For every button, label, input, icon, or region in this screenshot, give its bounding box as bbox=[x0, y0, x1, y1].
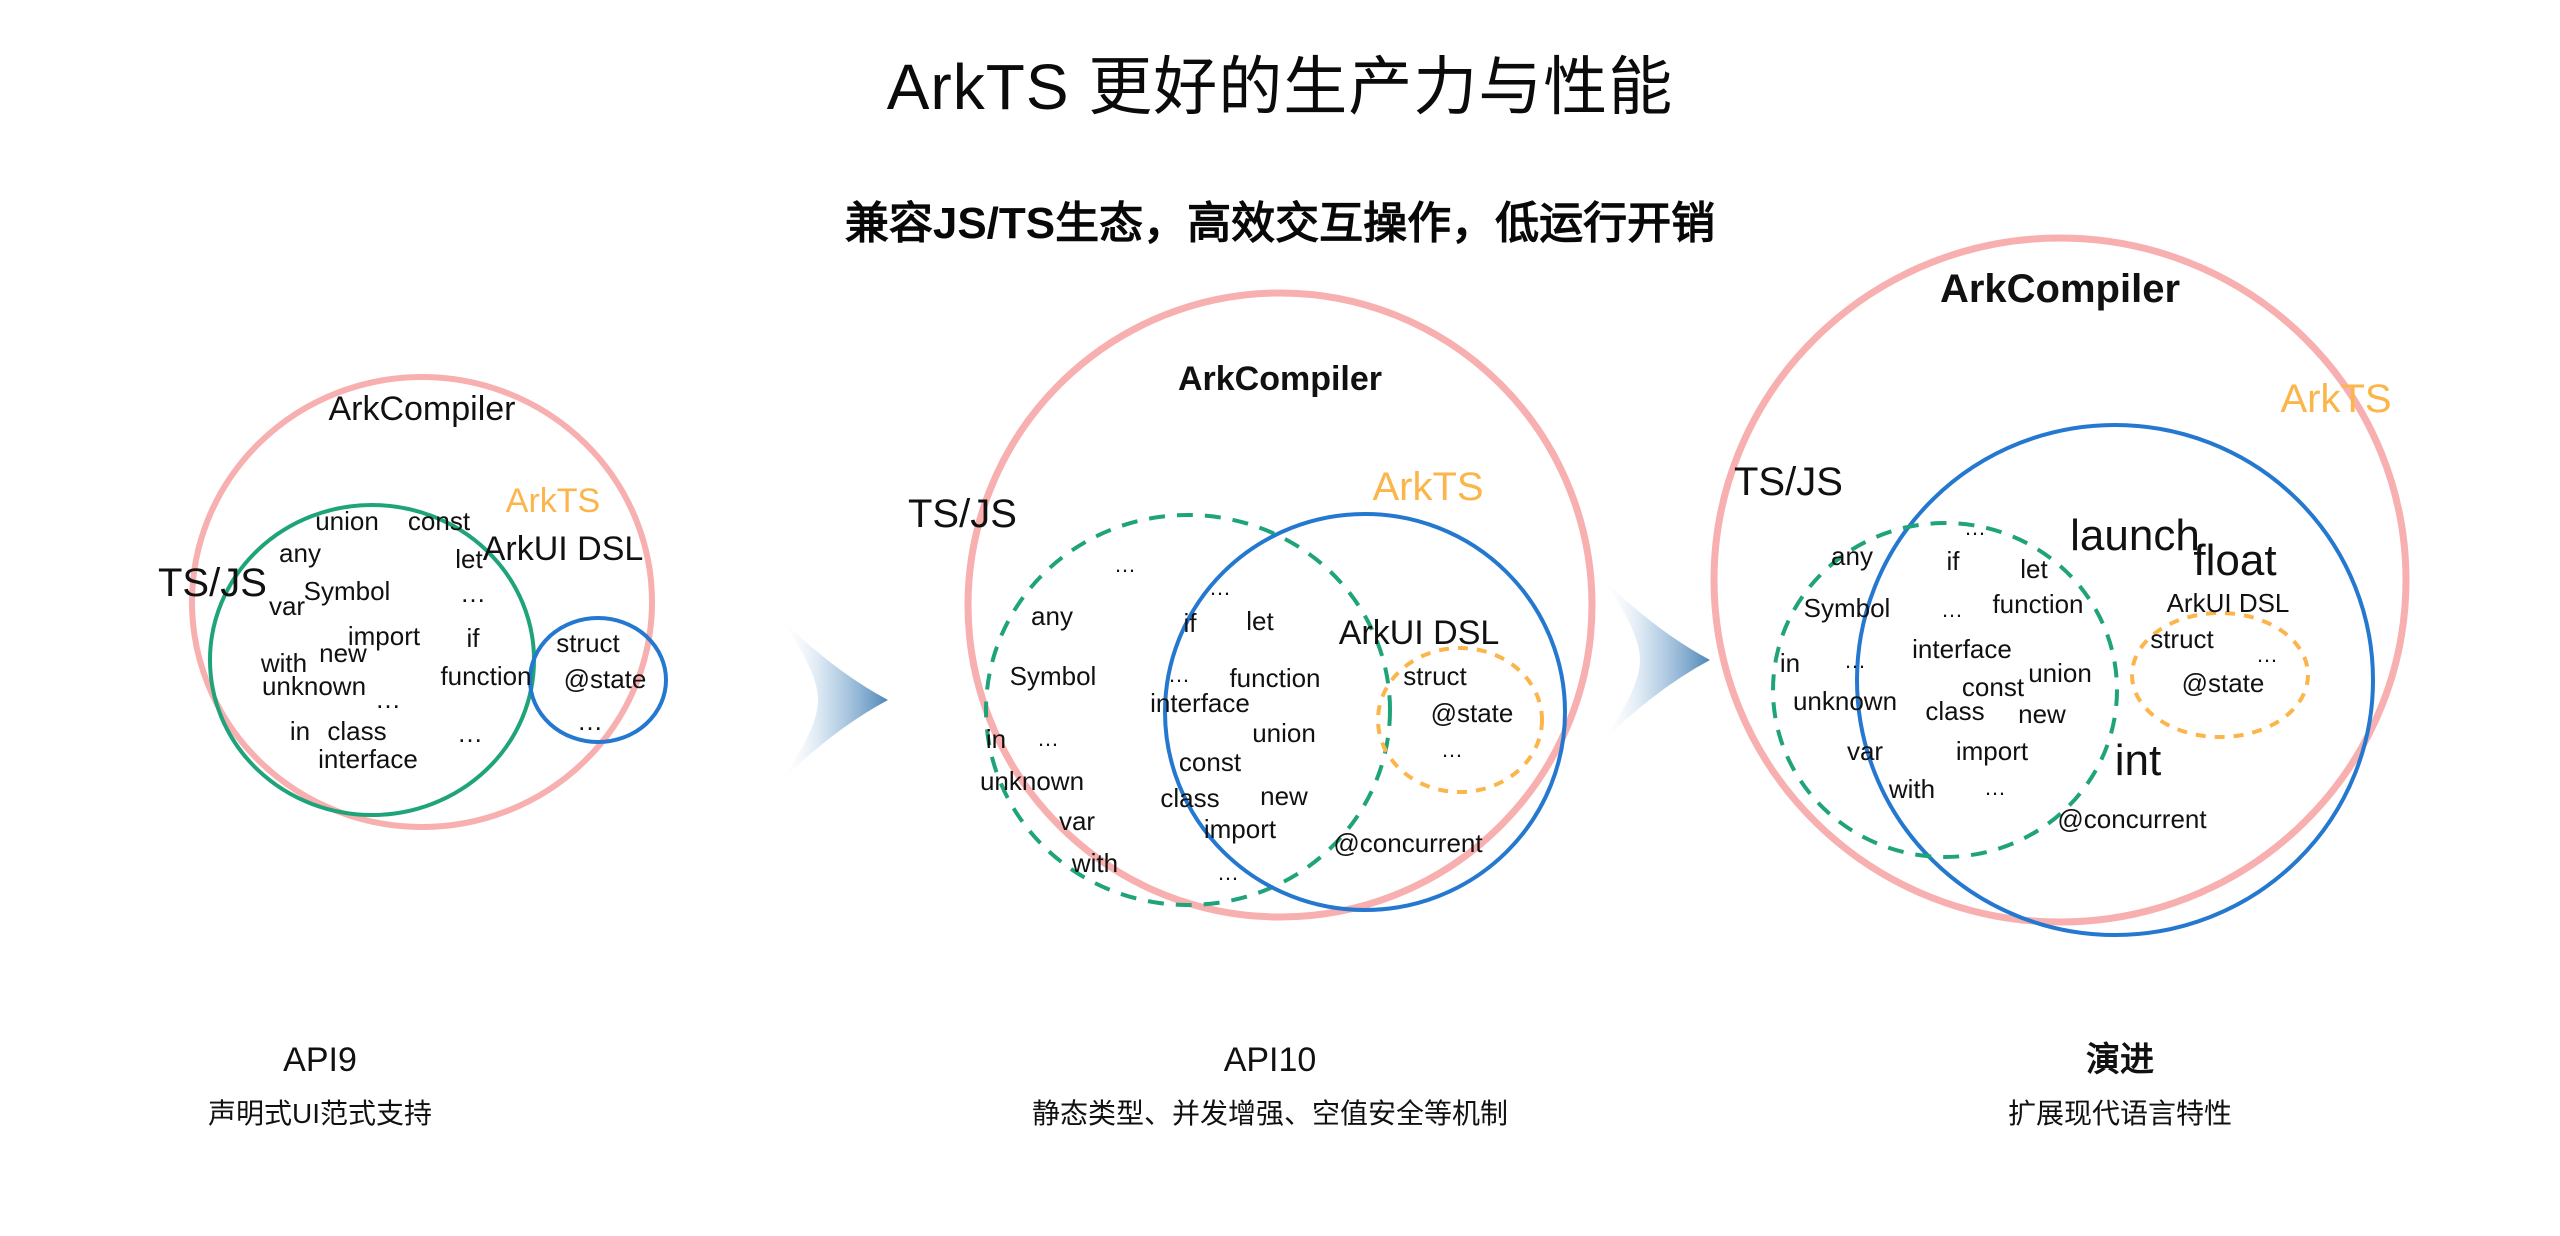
panel-api10: ArkCompiler TS/JS ArkTS ArkUI DSL … any … bbox=[900, 250, 1640, 950]
svg-text:@state: @state bbox=[2182, 668, 2265, 698]
tsjs-keyword-cloud: … any Symbol in … unknown var with bbox=[980, 552, 1136, 878]
svg-text:new: new bbox=[2018, 699, 2066, 729]
svg-text:unknown: unknown bbox=[262, 671, 366, 701]
svg-text:Symbol: Symbol bbox=[1804, 593, 1891, 623]
svg-text:in: in bbox=[986, 724, 1006, 754]
page-title: ArkTS 更好的生产力与性能 bbox=[0, 52, 2560, 122]
panel-api9: ArkCompiler TS/JS ArkTS ArkUI DSL union … bbox=[100, 290, 740, 910]
caption-api9: API9 声明式UI范式支持 bbox=[0, 1040, 670, 1130]
arkui-keyword-cloud: struct … @state bbox=[2150, 624, 2278, 698]
svg-text:…: … bbox=[1941, 597, 1963, 622]
caption-api9-main: API9 bbox=[0, 1040, 670, 1081]
svg-text:if: if bbox=[1184, 608, 1198, 638]
svg-text:import: import bbox=[1956, 736, 2029, 766]
svg-text:interface: interface bbox=[1150, 688, 1250, 718]
caption-evolution-main: 演进 bbox=[1770, 1040, 2470, 1081]
arkui-keyword-cloud: struct @state … bbox=[1403, 661, 1513, 762]
svg-text:…: … bbox=[1441, 737, 1463, 762]
arkts-only-keyword-cloud: @concurrent bbox=[1333, 828, 1483, 858]
caption-api10-main: API10 bbox=[920, 1040, 1620, 1081]
panel-evolution: ArkCompiler TS/JS ArkTS ArkUI DSL any Sy… bbox=[1690, 180, 2450, 960]
tsjs-keyword-cloud: any Symbol in … unknown var with bbox=[1780, 541, 1935, 804]
svg-text:@state: @state bbox=[1431, 698, 1514, 728]
diagram-canvas: ArkTS 更好的生产力与性能 兼容JS/TS生态，高效交互操作，低运行开销 A… bbox=[0, 0, 2560, 1236]
arkts-label: ArkTS bbox=[506, 482, 600, 520]
svg-text:…: … bbox=[1037, 726, 1059, 751]
arkui-dsl-label: ArkUI DSL bbox=[483, 530, 644, 568]
svg-text:int: int bbox=[2115, 736, 2161, 785]
svg-text:…: … bbox=[460, 578, 486, 608]
svg-text:@concurrent: @concurrent bbox=[2057, 804, 2207, 834]
svg-text:var: var bbox=[1847, 736, 1883, 766]
svg-text:function: function bbox=[1992, 589, 2083, 619]
svg-text:…: … bbox=[1114, 552, 1136, 577]
svg-text:…: … bbox=[1964, 515, 1986, 540]
svg-text:Symbol: Symbol bbox=[304, 576, 391, 606]
caption-api10: API10 静态类型、并发增强、空值安全等机制 bbox=[920, 1040, 1620, 1130]
svg-text:in: in bbox=[1780, 648, 1800, 678]
svg-text:…: … bbox=[1168, 662, 1190, 687]
svg-text:with: with bbox=[1888, 774, 1935, 804]
svg-text:any: any bbox=[1031, 601, 1073, 631]
svg-text:class: class bbox=[327, 716, 386, 746]
svg-text:var: var bbox=[269, 591, 305, 621]
svg-text:Symbol: Symbol bbox=[1010, 661, 1097, 691]
svg-text:new: new bbox=[319, 638, 367, 668]
svg-text:in: in bbox=[290, 716, 310, 746]
svg-text:unknown: unknown bbox=[980, 766, 1084, 796]
svg-text:unknown: unknown bbox=[1793, 686, 1897, 716]
svg-text:…: … bbox=[457, 718, 483, 748]
svg-text:struct: struct bbox=[1403, 661, 1467, 691]
svg-text:if: if bbox=[467, 623, 481, 653]
svg-text:…: … bbox=[2256, 642, 2278, 667]
svg-text:let: let bbox=[455, 544, 483, 574]
svg-text:@state: @state bbox=[564, 664, 647, 694]
svg-text:var: var bbox=[1059, 806, 1095, 836]
tsjs-label: TS/JS bbox=[158, 561, 267, 605]
svg-text:with: with bbox=[1071, 848, 1118, 878]
svg-text:…: … bbox=[375, 684, 401, 714]
svg-text:…: … bbox=[1984, 775, 2006, 800]
arkts-circle bbox=[1857, 425, 2373, 935]
arkts-label: ArkTS bbox=[2280, 377, 2391, 421]
svg-text:let: let bbox=[2020, 554, 2048, 584]
svg-text:const: const bbox=[1179, 747, 1242, 777]
svg-text:import: import bbox=[1204, 814, 1277, 844]
svg-text:…: … bbox=[1844, 648, 1866, 673]
caption-api9-sub: 声明式UI范式支持 bbox=[0, 1097, 670, 1131]
arkcompiler-label: ArkCompiler bbox=[1940, 267, 2180, 311]
tsjs-label: TS/JS bbox=[1734, 460, 1843, 504]
svg-text:launch: launch bbox=[2070, 511, 2200, 560]
svg-text:class: class bbox=[1925, 696, 1984, 726]
caption-evolution-sub: 扩展现代语言特性 bbox=[1770, 1097, 2470, 1131]
arkcompiler-label: ArkCompiler bbox=[328, 390, 515, 428]
svg-text:union: union bbox=[1252, 718, 1316, 748]
svg-text:any: any bbox=[279, 538, 321, 568]
arrow-api9-to-api10 bbox=[770, 610, 900, 790]
svg-text:union: union bbox=[2028, 658, 2092, 688]
svg-text:struct: struct bbox=[2150, 624, 2214, 654]
svg-text:interface: interface bbox=[318, 744, 418, 774]
svg-text:union: union bbox=[315, 506, 379, 536]
svg-text:let: let bbox=[1246, 606, 1274, 636]
svg-text:new: new bbox=[1260, 781, 1308, 811]
shared-keyword-cloud: … if let … function interface union cons… bbox=[1912, 515, 2092, 800]
svg-text:@concurrent: @concurrent bbox=[1333, 828, 1483, 858]
svg-text:float: float bbox=[2193, 536, 2276, 585]
arkui-dsl-label: ArkUI DSL bbox=[1339, 614, 1500, 652]
svg-text:class: class bbox=[1160, 783, 1219, 813]
svg-text:interface: interface bbox=[1912, 634, 2012, 664]
tsjs-label: TS/JS bbox=[908, 492, 1017, 536]
svg-text:function: function bbox=[440, 661, 531, 691]
caption-evolution: 演进 扩展现代语言特性 bbox=[1770, 1040, 2470, 1130]
svg-text:any: any bbox=[1831, 541, 1873, 571]
svg-text:…: … bbox=[577, 706, 603, 736]
caption-api10-sub: 静态类型、并发增强、空值安全等机制 bbox=[920, 1097, 1620, 1131]
svg-text:…: … bbox=[1217, 860, 1239, 885]
svg-text:const: const bbox=[408, 506, 471, 536]
svg-text:struct: struct bbox=[556, 628, 620, 658]
svg-text:…: … bbox=[1209, 575, 1231, 600]
arkts-label: ArkTS bbox=[1372, 465, 1483, 509]
arkcompiler-label: ArkCompiler bbox=[1178, 360, 1382, 398]
svg-text:if: if bbox=[1947, 546, 1961, 576]
shared-keyword-cloud: … if let … function interface union cons… bbox=[1150, 575, 1320, 885]
arkui-dsl-label: ArkUI DSL bbox=[2167, 588, 2290, 618]
arkui-keyword-cloud: struct @state … bbox=[556, 628, 646, 736]
